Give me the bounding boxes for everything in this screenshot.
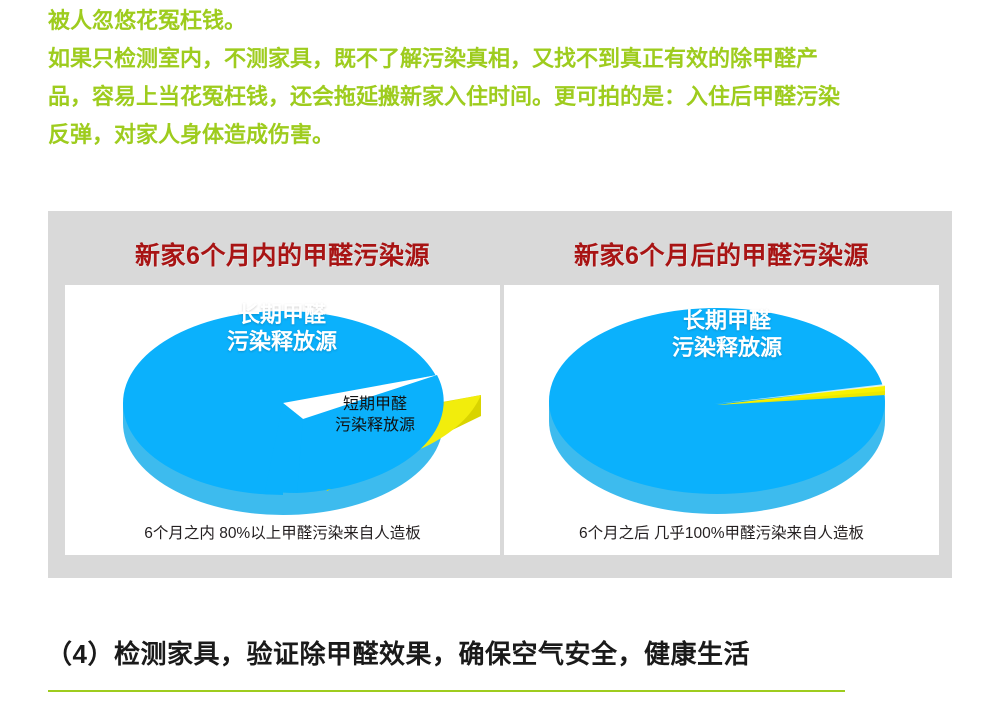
intro-paragraph: 被人忽悠花冤枉钱。 如果只检测室内，不测家具，既不了解污染真相，又找不到真正有效…	[48, 2, 948, 154]
intro-line-1: 被人忽悠花冤枉钱。	[48, 2, 948, 40]
section-heading: （4）检测家具，验证除甲醛效果，确保空气安全，健康生活	[46, 634, 750, 671]
chart-caption-right: 6个月之后 几乎100%甲醛污染来自人造板	[504, 521, 939, 543]
intro-line-4: 反弹，对家人身体造成伤害。	[48, 116, 948, 154]
chart-column-before-6-months: 新家6个月内的甲醛污染源	[65, 211, 500, 578]
section-divider	[48, 690, 845, 692]
intro-line-3: 品，容易上当花冤枉钱，还会拖延搬新家入住时间。更可拍的是：入住后甲醛污染	[48, 78, 948, 116]
pie-left-svg	[65, 285, 500, 517]
chart-caption-left: 6个月之内 80%以上甲醛污染来自人造板	[65, 521, 500, 543]
pie-chart-left	[65, 285, 500, 517]
page-root: 被人忽悠花冤枉钱。 如果只检测室内，不测家具，既不了解污染真相，又找不到真正有效…	[0, 0, 1000, 706]
charts-panel: 新家6个月内的甲醛污染源	[48, 211, 952, 578]
pie-right-svg	[504, 285, 939, 517]
pie-chart-right	[504, 285, 939, 517]
chart-title-left: 新家6个月内的甲醛污染源	[65, 236, 500, 272]
chart-card-left: 长期甲醛 污染释放源 短期甲醛 污染释放源 6个月之内 80%以上甲醛污染来自人…	[65, 285, 500, 555]
chart-title-right: 新家6个月后的甲醛污染源	[504, 236, 939, 272]
pie-right-blue-slice	[549, 308, 885, 494]
intro-line-2: 如果只检测室内，不测家具，既不了解污染真相，又找不到真正有效的除甲醛产	[48, 40, 948, 78]
chart-column-after-6-months: 新家6个月后的甲醛污染源	[504, 211, 939, 578]
chart-card-right: 长期甲醛 污染释放源 6个月之后 几乎100%甲醛污染来自人造板	[504, 285, 939, 555]
